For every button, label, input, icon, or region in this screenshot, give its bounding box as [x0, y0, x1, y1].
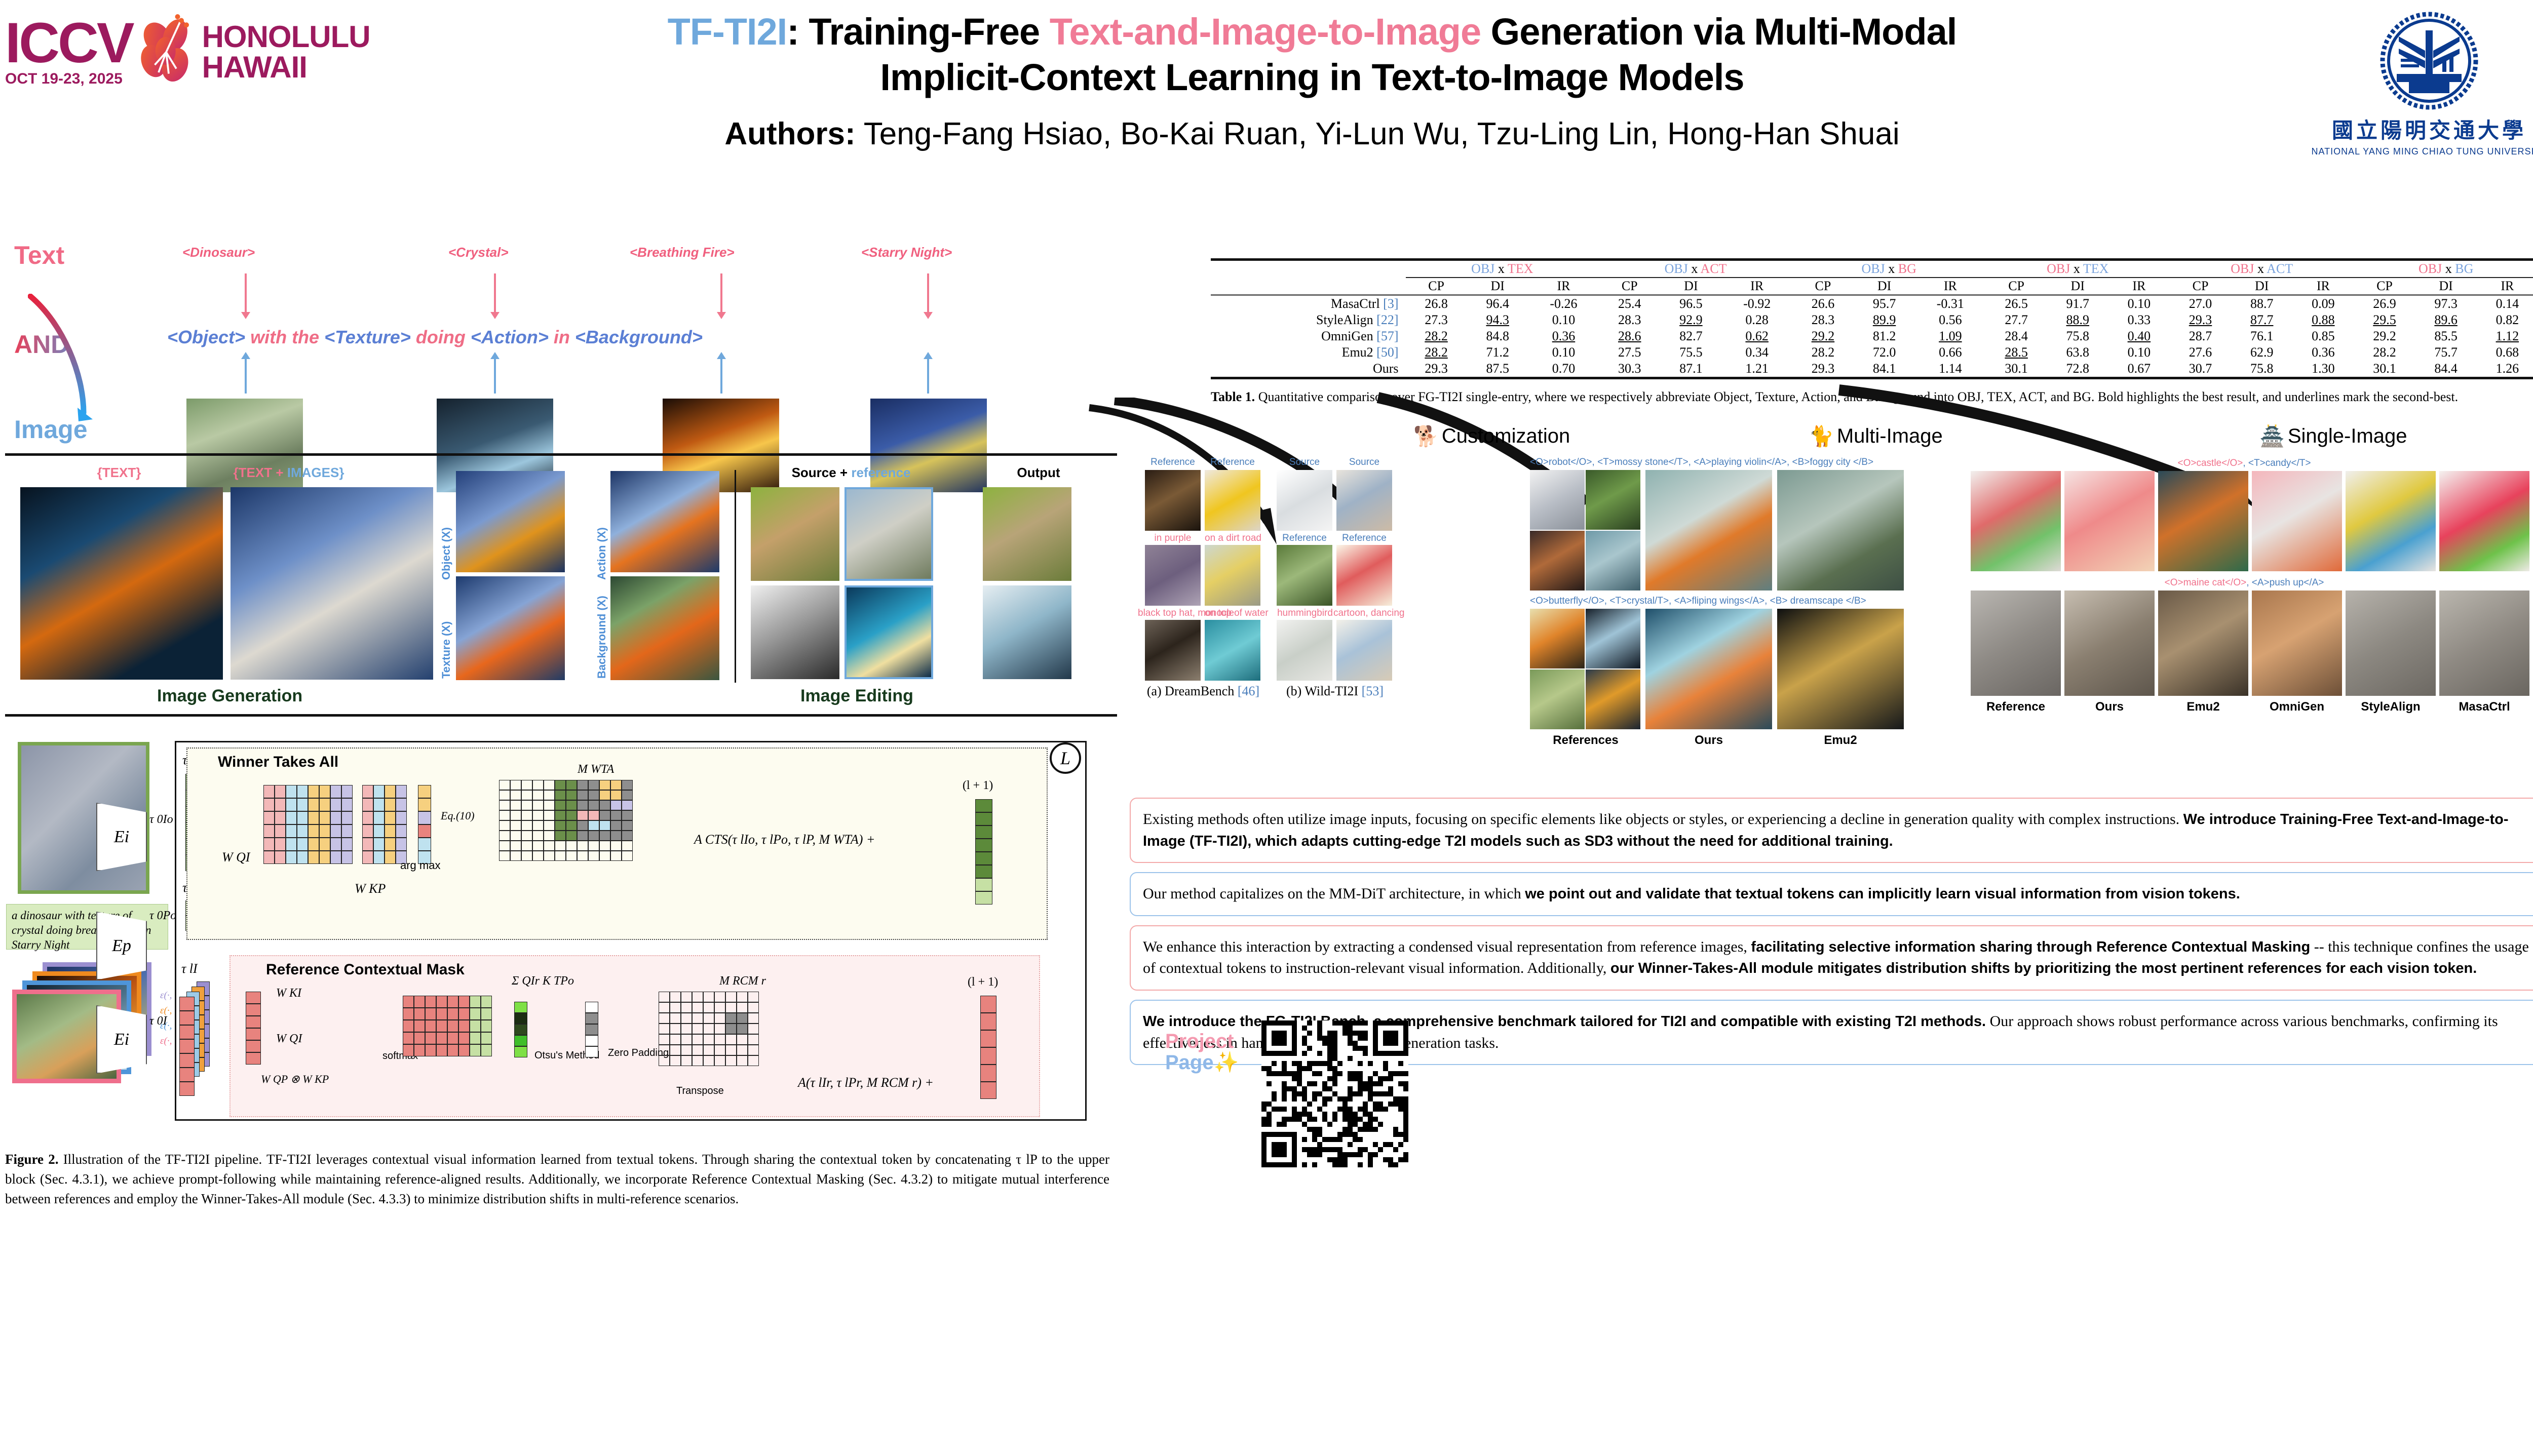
project-label-line2: Page✨	[1165, 1052, 1256, 1073]
section-image-editing: Image Editing	[800, 686, 913, 706]
table-cell: 27.6	[2170, 344, 2231, 361]
mi-ours-robot-violin	[1645, 470, 1772, 591]
conn-with-the: with the	[245, 327, 324, 347]
table-cell: 0.70	[1528, 361, 1599, 378]
wq-i-label: W QI	[222, 850, 250, 865]
wta-argmax-matrix	[362, 785, 407, 864]
fig2-caption-text: Illustration of the TF-TI2I pipeline. TF…	[5, 1152, 1109, 1206]
table-cell: 28.3	[1599, 312, 1660, 328]
table-cell: 88.9	[2047, 312, 2108, 328]
table-cell: 29.5	[2354, 312, 2415, 328]
table-cell: 27.0	[2170, 295, 2231, 312]
table-cell: 1.12	[2477, 328, 2533, 344]
mi-ref-mossy-stone	[1586, 470, 1640, 530]
mi-prompt-top: <O>robot</O>, <T>mossy stone</T>, <A>pla…	[1530, 457, 1976, 468]
bullet-3-segment-1: We enhance this interaction by extractin…	[1143, 938, 1751, 955]
table-cell: 30.1	[2354, 361, 2415, 378]
si-prompt-top-b: , <T>candy</T>	[2243, 458, 2311, 468]
table-row-name: Emu2 [50]	[1211, 344, 1406, 361]
group1-a: OBJ	[1665, 261, 1688, 276]
si-ours-candy-castle	[2064, 471, 2155, 571]
table-cell: 81.2	[1854, 328, 1915, 344]
text-to-image-arc-icon	[28, 294, 119, 425]
ablation-background-x	[610, 576, 719, 680]
si-ours-cat-pushup	[2064, 591, 2155, 696]
wk-i-label: W KI	[276, 987, 301, 1000]
table-cell: 94.3	[1467, 312, 1528, 328]
wildti2i-caption: (b) Wild-TI2I [53]	[1272, 684, 1398, 699]
si-stylealign-cat-pushup	[2346, 591, 2436, 696]
rowlabel-texture: Texture (X)	[440, 590, 453, 679]
table-cell: 27.7	[1986, 312, 2047, 328]
group4-a: OBJ	[2231, 261, 2254, 276]
group2-x: x	[1885, 261, 1898, 276]
rowlabel-object: Object (X)	[440, 491, 453, 580]
table-cell: 88.7	[2231, 295, 2292, 312]
table-cell: 72.8	[2047, 361, 2108, 378]
mi-ref-foggy-city	[1586, 531, 1640, 591]
si-collabel-reference: Reference	[1971, 700, 2061, 714]
table-row: OmniGen [57]28.284.80.3628.682.70.6229.2…	[1211, 328, 2533, 344]
table-cell: 71.2	[1467, 344, 1528, 361]
down-arrow-action	[720, 273, 722, 313]
table-cell: 29.3	[1406, 361, 1467, 378]
table-cell: 28.5	[1986, 344, 2047, 361]
slot-object: <Object>	[167, 327, 245, 347]
mi-emu2-robot-violin	[1777, 470, 1904, 591]
mi-prompt-bottom: <O>butterfly</O>, <T>crystal/T>, <A>flip…	[1530, 596, 1976, 607]
si-prompt-top: <O>castle</O>, <T>candy</T>	[1950, 458, 2533, 469]
iccv-wordmark: ICCV	[5, 17, 133, 69]
edit-source-sketch	[751, 585, 839, 679]
table-cell: 0.67	[2108, 361, 2170, 378]
label-text-part: {TEXT	[234, 465, 273, 480]
table-cell: 28.6	[1599, 328, 1660, 344]
group-header-3: OBJ x TEX	[1986, 260, 2170, 278]
si-omnigen-cat-pushup	[2252, 591, 2342, 696]
wild-label-reference-2: Reference	[1336, 533, 1392, 544]
table-cell: 1.30	[2292, 361, 2354, 378]
metric-header-5-1: DI	[2415, 278, 2477, 295]
section-heading-single-image: 🏯 Single-Image	[2259, 424, 2407, 448]
table-cell: 26.8	[1406, 295, 1467, 312]
title-part2: : Training-Free	[787, 11, 1050, 53]
table-row-name: MasaCtrl [3]	[1211, 295, 1406, 312]
group5-b: BG	[2455, 261, 2473, 276]
table-cell: 29.3	[2170, 312, 2231, 328]
db-label-reference-2: Reference	[1205, 457, 1260, 468]
ablation-action-x	[610, 471, 719, 572]
table-cell: 26.9	[2354, 295, 2415, 312]
table-cell: 0.62	[1721, 328, 1792, 344]
si-prompt-top-a: <O>castle</O>	[2178, 458, 2243, 468]
table-cell: 92.9	[1660, 312, 1721, 328]
mi-collabel-ours: Ours	[1645, 733, 1772, 747]
table-cell: 1.14	[1915, 361, 1985, 378]
table-cell: 97.3	[2415, 295, 2477, 312]
table-cell: 96.4	[1467, 295, 1528, 312]
mi-emu2-butterfly	[1777, 609, 1904, 729]
mi-collabel-emu2: Emu2	[1777, 733, 1904, 747]
group-header-5: OBJ x BG	[2354, 260, 2533, 278]
slot-action: <Action>	[471, 327, 549, 347]
si-ref-candy	[1971, 471, 2061, 571]
table-cell: 0.09	[2292, 295, 2354, 312]
table-cell: 85.5	[2415, 328, 2477, 344]
bullet-2-segment-2: we point out and validate that textual t…	[1525, 886, 2240, 902]
si-masactrl-candy	[2439, 471, 2529, 571]
rcm-attention-matrix	[403, 996, 492, 1056]
si-collabel-omnigen: OmniGen	[2252, 700, 2342, 714]
table-group-header-row: OBJ x TEX OBJ x ACT OBJ x BG OBJ x TEX O	[1211, 260, 2533, 278]
label-plus: +	[272, 465, 287, 480]
down-arrow-object	[245, 273, 247, 313]
table-cell: 29.2	[1792, 328, 1854, 344]
wildti2i-caption-text: (b) Wild-TI2I	[1286, 684, 1358, 698]
wk-p-label: W KP	[355, 881, 386, 896]
mi-ref-dreamscape	[1586, 670, 1640, 729]
iccv-dates: OCT 19-23, 2025	[5, 70, 133, 88]
group0-x: x	[1494, 261, 1508, 276]
image-encoder-top: Ei	[96, 803, 147, 871]
table-cell: 28.4	[1986, 328, 2047, 344]
ablation-object-x	[456, 471, 565, 572]
transpose-label: Transpose	[676, 1085, 724, 1097]
table-cell: 76.1	[2231, 328, 2292, 344]
si-omnigen-candy-castle	[2252, 471, 2342, 571]
castle-icon: 🏯	[2259, 424, 2285, 448]
group2-a: OBJ	[1862, 261, 1885, 276]
si-prompt-bottom-a: <O>maine cat</O>	[2165, 577, 2247, 588]
project-page-label: Project Page✨	[1165, 1031, 1256, 1073]
db-label-in-purple: in purple	[1145, 533, 1201, 544]
dreambench-caption: (a) DreamBench [46]	[1140, 684, 1267, 699]
metric-header-4-1: DI	[2231, 278, 2292, 295]
qr-code[interactable]	[1261, 1020, 1408, 1167]
table-cell: 89.6	[2415, 312, 2477, 328]
nycu-name-en: NATIONAL YANG MING CHIAO TUNG UNIVERSITY	[2310, 146, 2533, 157]
table-cell: 1.09	[1915, 328, 1985, 344]
wq-i-rcm-label: W QI	[276, 1032, 302, 1046]
rcm-score-column	[514, 1002, 527, 1057]
slot-texture: <Texture>	[324, 327, 411, 347]
wild-img-couple-cartoon	[1336, 620, 1392, 681]
si-collabel-masactrl: MasaCtrl	[2439, 700, 2529, 714]
table-cell: 0.33	[2108, 312, 2170, 328]
label-output: Output	[983, 465, 1094, 481]
table-cell: 87.7	[2231, 312, 2292, 328]
wild-label-hummingbird: hummingbird	[1275, 608, 1335, 619]
si-collabel-ours: Ours	[2064, 700, 2155, 714]
up-arrow-background	[927, 358, 929, 393]
table-cell: 26.6	[1792, 295, 1854, 312]
group-header-4: OBJ x ACT	[2170, 260, 2354, 278]
table-cell: 25.4	[1599, 295, 1660, 312]
slot-example-fire: <Breathing Fire>	[630, 245, 735, 260]
project-label-page: Page	[1165, 1051, 1214, 1074]
group2-b: BG	[1898, 261, 1916, 276]
contribution-bullet-3: We enhance this interaction by extractin…	[1130, 925, 2533, 991]
section-label-multi-image: Multi-Image	[1837, 425, 1943, 448]
table-cell: 29.3	[1792, 361, 1854, 378]
table-cell: -0.31	[1915, 295, 1985, 312]
table-cell: 26.5	[1986, 295, 2047, 312]
metric-header-3-1: DI	[2047, 278, 2108, 295]
table-cell: 28.2	[2354, 344, 2415, 361]
table-row-name: OmniGen [57]	[1211, 328, 1406, 344]
table-cell: 84.1	[1854, 361, 1915, 378]
db-label-on-water: on top of water	[1205, 608, 1260, 619]
group1-b: ACT	[1700, 261, 1726, 276]
group-header-1: OBJ x ACT	[1599, 260, 1792, 278]
a-rcm-formula: A(τ lIr, τ lPr, M RCM r) +	[798, 1075, 934, 1090]
table-body: MasaCtrl [3]26.896.4-0.2625.496.5-0.9226…	[1211, 295, 2533, 378]
rowlabel-action: Action (X)	[595, 491, 608, 580]
left-column: Text AND Image <Dinosaur> <Crystal> <Bre…	[0, 230, 1125, 1456]
tau-I-l-label: τ lI	[181, 961, 198, 976]
wqp-wpk-label: W QP ⊗ W KP	[261, 1073, 329, 1086]
table-cell: 28.2	[1406, 328, 1467, 344]
slot-example-starry: <Starry Night>	[861, 245, 952, 260]
fig2-pipeline-diagram: a dinosaur with texture of crystal doing…	[0, 737, 1120, 1142]
image-encoder-ref: Ei	[96, 1005, 147, 1074]
table-cell: 0.10	[2108, 344, 2170, 361]
poster-title-line1: TF-TI2I: Training-Free Text-and-Image-to…	[375, 9, 2249, 55]
table-cell: 75.5	[1660, 344, 1721, 361]
hibiscus-flower-icon	[136, 14, 199, 90]
edit-reference-wave	[845, 585, 933, 679]
table-cell: 1.26	[2477, 361, 2533, 378]
slot-background: <Background>	[575, 327, 703, 347]
wild-img-penguin-bird	[1277, 620, 1332, 681]
poster-root: ICCV OCT 19-23, 2025	[0, 0, 2533, 1455]
table-cell: 87.5	[1467, 361, 1528, 378]
wta-argmax-label: arg max	[400, 859, 440, 872]
mi-ours-butterfly	[1645, 609, 1772, 729]
right-column: OBJ x TEX OBJ x ACT OBJ x BG OBJ x TEX O	[1130, 230, 2533, 1456]
wild-label-source-2: Source	[1336, 457, 1392, 468]
a-cts-formula: A CTS(τ lIo, τ lPo, τ lP, M WTA) +	[694, 832, 875, 847]
metric-header-2-0: CP	[1792, 278, 1854, 295]
mi-ref-flipping-wings	[1530, 670, 1585, 729]
conn-in: in	[549, 327, 575, 347]
metric-header-5-0: CP	[2354, 278, 2415, 295]
table-cell: 1.21	[1721, 361, 1792, 378]
table-cell: 91.7	[2047, 295, 2108, 312]
table1-wrapper: OBJ x TEX OBJ x ACT OBJ x BG OBJ x TEX O	[1211, 258, 2533, 379]
table-cell: 0.10	[2108, 295, 2170, 312]
label-text-only: {TEXT}	[56, 465, 182, 481]
metric-header-3-0: CP	[1986, 278, 2047, 295]
table-metric-header-row: CPDIIRCPDIIRCPDIIRCPDIIRCPDIIRCPDIIR	[1211, 278, 2533, 295]
dreambench-cite: [46]	[1238, 684, 1259, 698]
wta-mask-matrix	[499, 780, 633, 861]
db-img-clock-ref	[1205, 470, 1260, 531]
group4-x: x	[2254, 261, 2267, 276]
title-part3: Generation via Multi-Modal	[1481, 11, 1956, 53]
rcm-mask-matrix	[659, 992, 759, 1066]
pipeline-outer-box: τ lIo τ lPo τ lI	[175, 741, 1087, 1121]
table-cell: 28.3	[1792, 312, 1854, 328]
up-arrow-texture	[494, 358, 496, 393]
metric-header-1-2: IR	[1721, 278, 1792, 295]
db-img-cat-ref	[1145, 470, 1201, 531]
table-cell: 96.5	[1660, 295, 1721, 312]
edit-output-zebra-jaguar	[983, 487, 1071, 581]
wild-img-penguin-src	[1277, 470, 1332, 531]
reference-contextual-mask-module: Reference Contextual Mask W KI W QI W QP…	[229, 955, 1040, 1117]
group-header-2: OBJ x BG	[1792, 260, 1986, 278]
group3-a: OBJ	[2047, 261, 2070, 276]
table-row: MasaCtrl [3]26.896.4-0.2625.496.5-0.9226…	[1211, 295, 2533, 312]
poster-title-line2: Implicit-Context Learning in Text-to-Ima…	[375, 55, 2249, 100]
table-cell: 75.8	[2047, 328, 2108, 344]
label-images-part: IMAGES}	[287, 465, 344, 480]
table-cell: 72.0	[1854, 344, 1915, 361]
table-cell: 0.10	[1528, 344, 1599, 361]
table-cell: 95.7	[1854, 295, 1915, 312]
bullet-1-segment-1: Existing methods often utilize image inp…	[1143, 811, 2183, 828]
wild-img-hummingbird-ref	[1277, 545, 1332, 606]
wild-img-cartoon-ref	[1336, 545, 1392, 606]
table-cell: 63.8	[2047, 344, 2108, 361]
table-cell: 0.36	[2292, 344, 2354, 361]
dreambench-caption-text: (a) DreamBench	[1147, 684, 1235, 698]
conn-doing: doing	[411, 327, 471, 347]
sparkle-icon: ✨	[1214, 1051, 1239, 1074]
mi-ref-crystal	[1586, 609, 1640, 668]
tau-Io-0-label: τ 0Io	[149, 813, 173, 827]
metric-header-4-0: CP	[2170, 278, 2231, 295]
up-arrow-action	[720, 358, 722, 393]
mi-collabel-references: References	[1530, 733, 1641, 747]
rowlabel-background: Background (X)	[595, 590, 608, 679]
authors-names: Teng-Fang Hsiao, Bo-Kai Ruan, Yi-Lun Wu,…	[856, 116, 1900, 151]
poster-title-block: TF-TI2I: Training-Free Text-and-Image-to…	[375, 9, 2249, 152]
project-label-line1: Project	[1165, 1031, 1256, 1052]
table-cell: 28.7	[2170, 328, 2231, 344]
authors-label: Authors:	[724, 116, 855, 151]
nycu-name-cn: 國立陽明交通大學	[2310, 113, 2533, 144]
table-row: Ours 29.387.50.7030.387.11.2129.384.11.1…	[1211, 361, 2533, 378]
layer-next-label-bottom: (l + 1)	[968, 975, 998, 989]
table-cell: 29.2	[2354, 328, 2415, 344]
output-token-column-top	[975, 799, 992, 904]
wta-title: Winner Takes All	[218, 754, 338, 771]
wild-label-reference-1: Reference	[1277, 533, 1332, 544]
metric-header-0-2: IR	[1528, 278, 1599, 295]
table-cell: 30.3	[1599, 361, 1660, 378]
db-label-dirt-road: on a dirt road	[1205, 533, 1260, 544]
group1-x: x	[1688, 261, 1701, 276]
table-row-name: StyleAlign [22]	[1211, 312, 1406, 328]
rcm-title: Reference Contextual Mask	[266, 961, 465, 978]
table-cell: 87.1	[1660, 361, 1721, 378]
table-cell: 0.88	[2292, 312, 2354, 328]
table-cell: 0.66	[1915, 344, 1985, 361]
table-cell: 84.4	[2415, 361, 2477, 378]
si-emu2-cat-pushup	[2158, 591, 2248, 696]
table-cell: 28.2	[1406, 344, 1467, 361]
cat-icon: 🐈	[1809, 424, 1834, 448]
up-arrow-object	[245, 358, 247, 393]
results-gallery: 🐕 Customization 🐈 Multi-Image 🏯 Single-I…	[1130, 430, 2533, 795]
prompt-encoder: Ep	[96, 912, 147, 980]
slot-example-dinosaur: <Dinosaur>	[182, 245, 255, 260]
wildti2i-cite: [53]	[1362, 684, 1384, 698]
output-token-column-bottom	[980, 996, 996, 1099]
table-cell: 75.8	[2231, 361, 2292, 378]
label-reference: reference	[851, 465, 910, 480]
poster-header: ICCV OCT 19-23, 2025	[0, 0, 2533, 233]
table-cell: 28.2	[1792, 344, 1854, 361]
iccv-city-line2: HAWAII	[202, 52, 370, 83]
wta-selected-column	[418, 785, 431, 864]
si-prompt-bottom-b: , <A>push up</A>	[2246, 577, 2324, 588]
axis-label-text: Text	[14, 241, 90, 270]
table-cell: 30.1	[1986, 361, 2047, 378]
db-label-top-hat: black top hat, monocle	[1138, 608, 1209, 619]
label-source: Source +	[792, 465, 852, 480]
db-img-cat-purple	[1145, 545, 1201, 606]
group4-b: ACT	[2267, 261, 2293, 276]
nycu-logo-block: 國立陽明交通大學 NATIONAL YANG MING CHIAO TUNG U…	[2310, 10, 2533, 157]
dog-icon: 🐕	[1413, 424, 1439, 448]
title-highlight: Text-and-Image-to-Image	[1050, 11, 1481, 53]
table-cell: 0.36	[1528, 328, 1599, 344]
rcm-binary-column	[585, 1002, 598, 1057]
fig2-caption-prefix: Figure 2.	[5, 1152, 58, 1167]
table-cell: 82.7	[1660, 328, 1721, 344]
layer-next-label-top: (l + 1)	[963, 779, 993, 793]
iccv-logo: ICCV OCT 19-23, 2025	[5, 9, 355, 95]
table-cell: 30.7	[2170, 361, 2231, 378]
table-cell: 0.82	[2477, 312, 2533, 328]
loop-iteration-badge: L	[1050, 742, 1081, 774]
metric-header-0-1: DI	[1467, 278, 1528, 295]
si-masactrl-cat-pushup	[2439, 591, 2529, 696]
contribution-bullet-2: Our method capitalizes on the MM-DiT arc…	[1130, 872, 2533, 916]
group0-a: OBJ	[1471, 261, 1494, 276]
metric-header-1-1: DI	[1660, 278, 1721, 295]
table-cell: 0.40	[2108, 328, 2170, 344]
table-cell: 0.10	[1528, 312, 1599, 328]
metric-header-1-0: CP	[1599, 278, 1660, 295]
table-cell: 62.9	[2231, 344, 2292, 361]
table-cell: 89.9	[1854, 312, 1915, 328]
wild-label-cartoon-dancing: cartoon, dancing	[1333, 608, 1399, 619]
group3-x: x	[2070, 261, 2083, 276]
contribution-bullet-1: Existing methods often utilize image inp…	[1130, 798, 2533, 863]
fig1-results-strip: {TEXT} {TEXT + IMAGES} Object (X) Textur…	[5, 453, 1117, 717]
table-cell: 0.28	[1721, 312, 1792, 328]
group3-b: TEX	[2083, 261, 2109, 276]
group0-b: TEX	[1508, 261, 1533, 276]
sum-qk-label: Σ QIr K TPo	[512, 974, 574, 988]
wild-label-source-1: Source	[1277, 457, 1332, 468]
table-cell: -0.92	[1721, 295, 1792, 312]
table-cell: 75.7	[2415, 344, 2477, 361]
rcm-input-tokens	[246, 992, 261, 1065]
m-rcm-label: M RCM r	[719, 974, 766, 988]
panel-divider	[735, 470, 736, 683]
group5-x: x	[2442, 261, 2455, 276]
table-cell: -0.26	[1528, 295, 1599, 312]
label-text-plus-images: {TEXT + IMAGES}	[208, 465, 370, 481]
quantitative-results-table: OBJ x TEX OBJ x ACT OBJ x BG OBJ x TEX O	[1211, 258, 2533, 379]
section-label-single-image: Single-Image	[2288, 425, 2407, 448]
table-row: StyleAlign [22]27.394.30.1028.392.90.282…	[1211, 312, 2533, 328]
